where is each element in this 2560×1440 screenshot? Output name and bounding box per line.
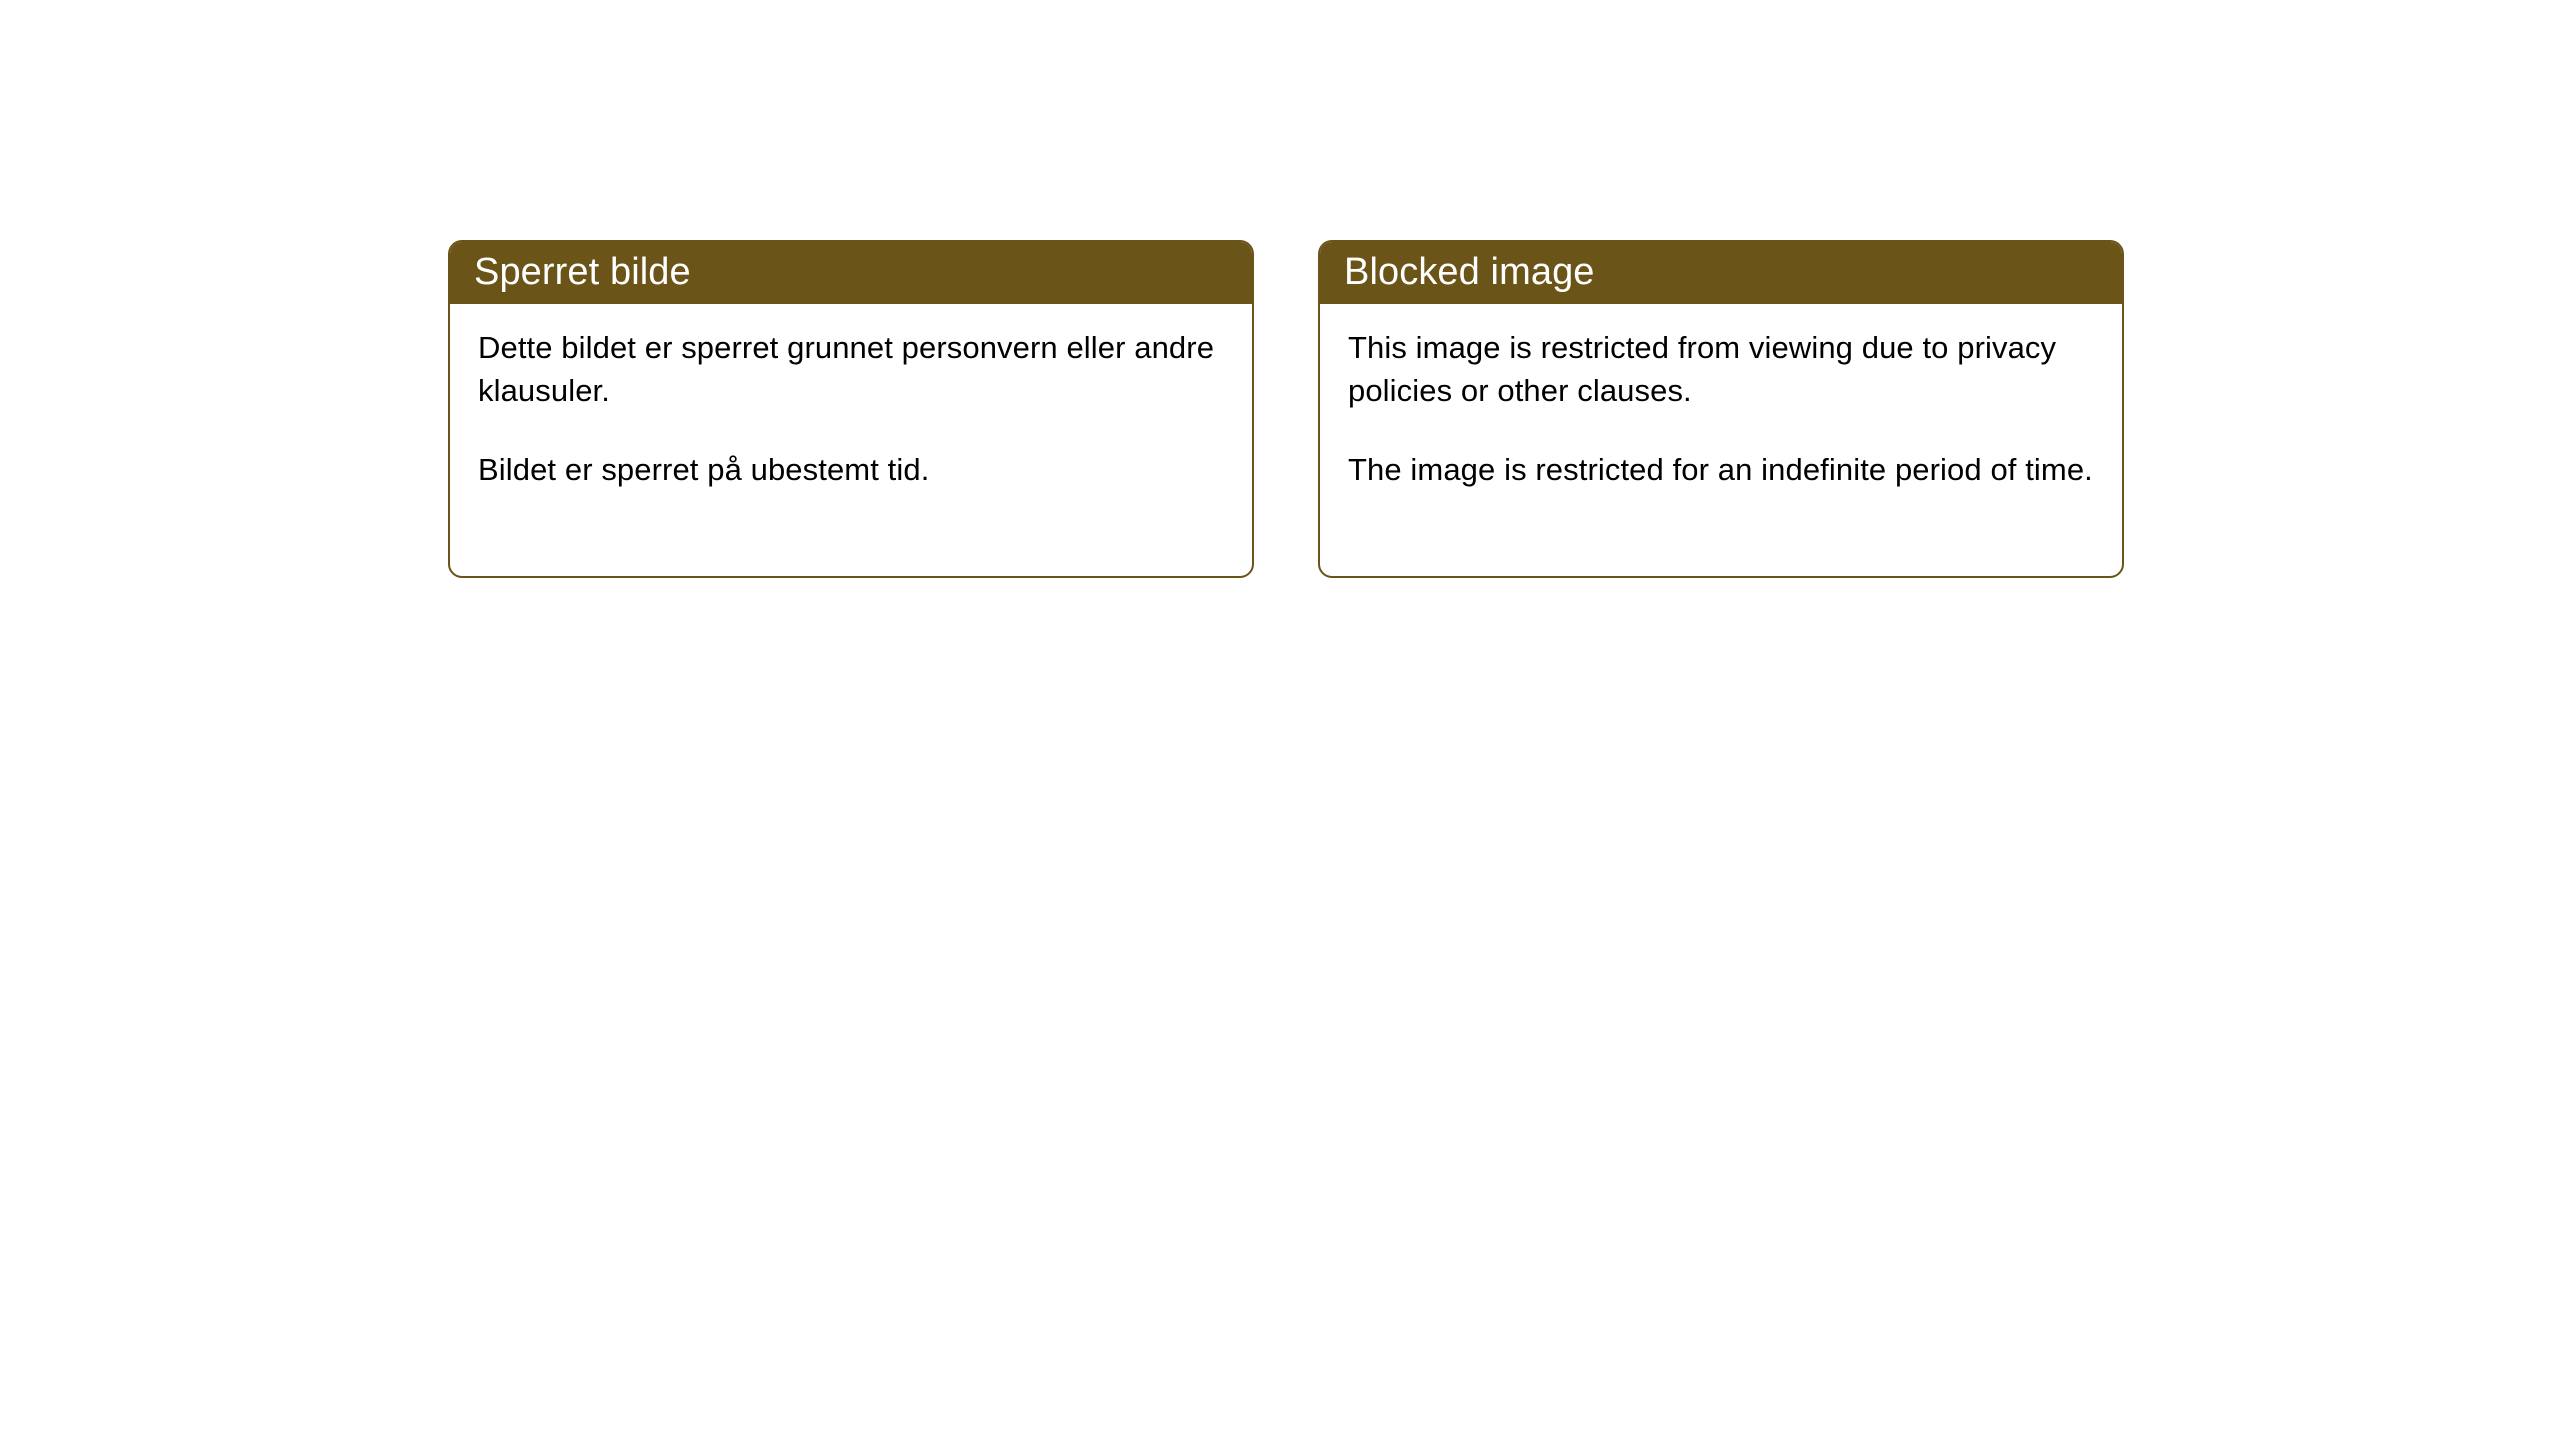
notice-paragraph-reason-no: Dette bildet er sperret grunnet personve… [478,326,1224,412]
notice-paragraph-duration-no: Bildet er sperret på ubestemt tid. [478,448,1224,491]
notice-card-title-en: Blocked image [1344,253,1595,291]
notice-stage: Sperret bilde Dette bildet er sperret gr… [0,0,2560,1440]
notice-card-body-en: This image is restricted from viewing du… [1320,304,2122,491]
notice-paragraph-duration-en: The image is restricted for an indefinit… [1348,448,2094,491]
blocked-image-notice-card-no: Sperret bilde Dette bildet er sperret gr… [448,240,1254,578]
notice-card-header-en: Blocked image [1318,240,2124,304]
notice-paragraph-reason-en: This image is restricted from viewing du… [1348,326,2094,412]
notice-card-title-no: Sperret bilde [474,253,691,291]
notice-card-body-no: Dette bildet er sperret grunnet personve… [450,304,1252,491]
blocked-image-notice-card-en: Blocked image This image is restricted f… [1318,240,2124,578]
notice-card-header-no: Sperret bilde [448,240,1254,304]
